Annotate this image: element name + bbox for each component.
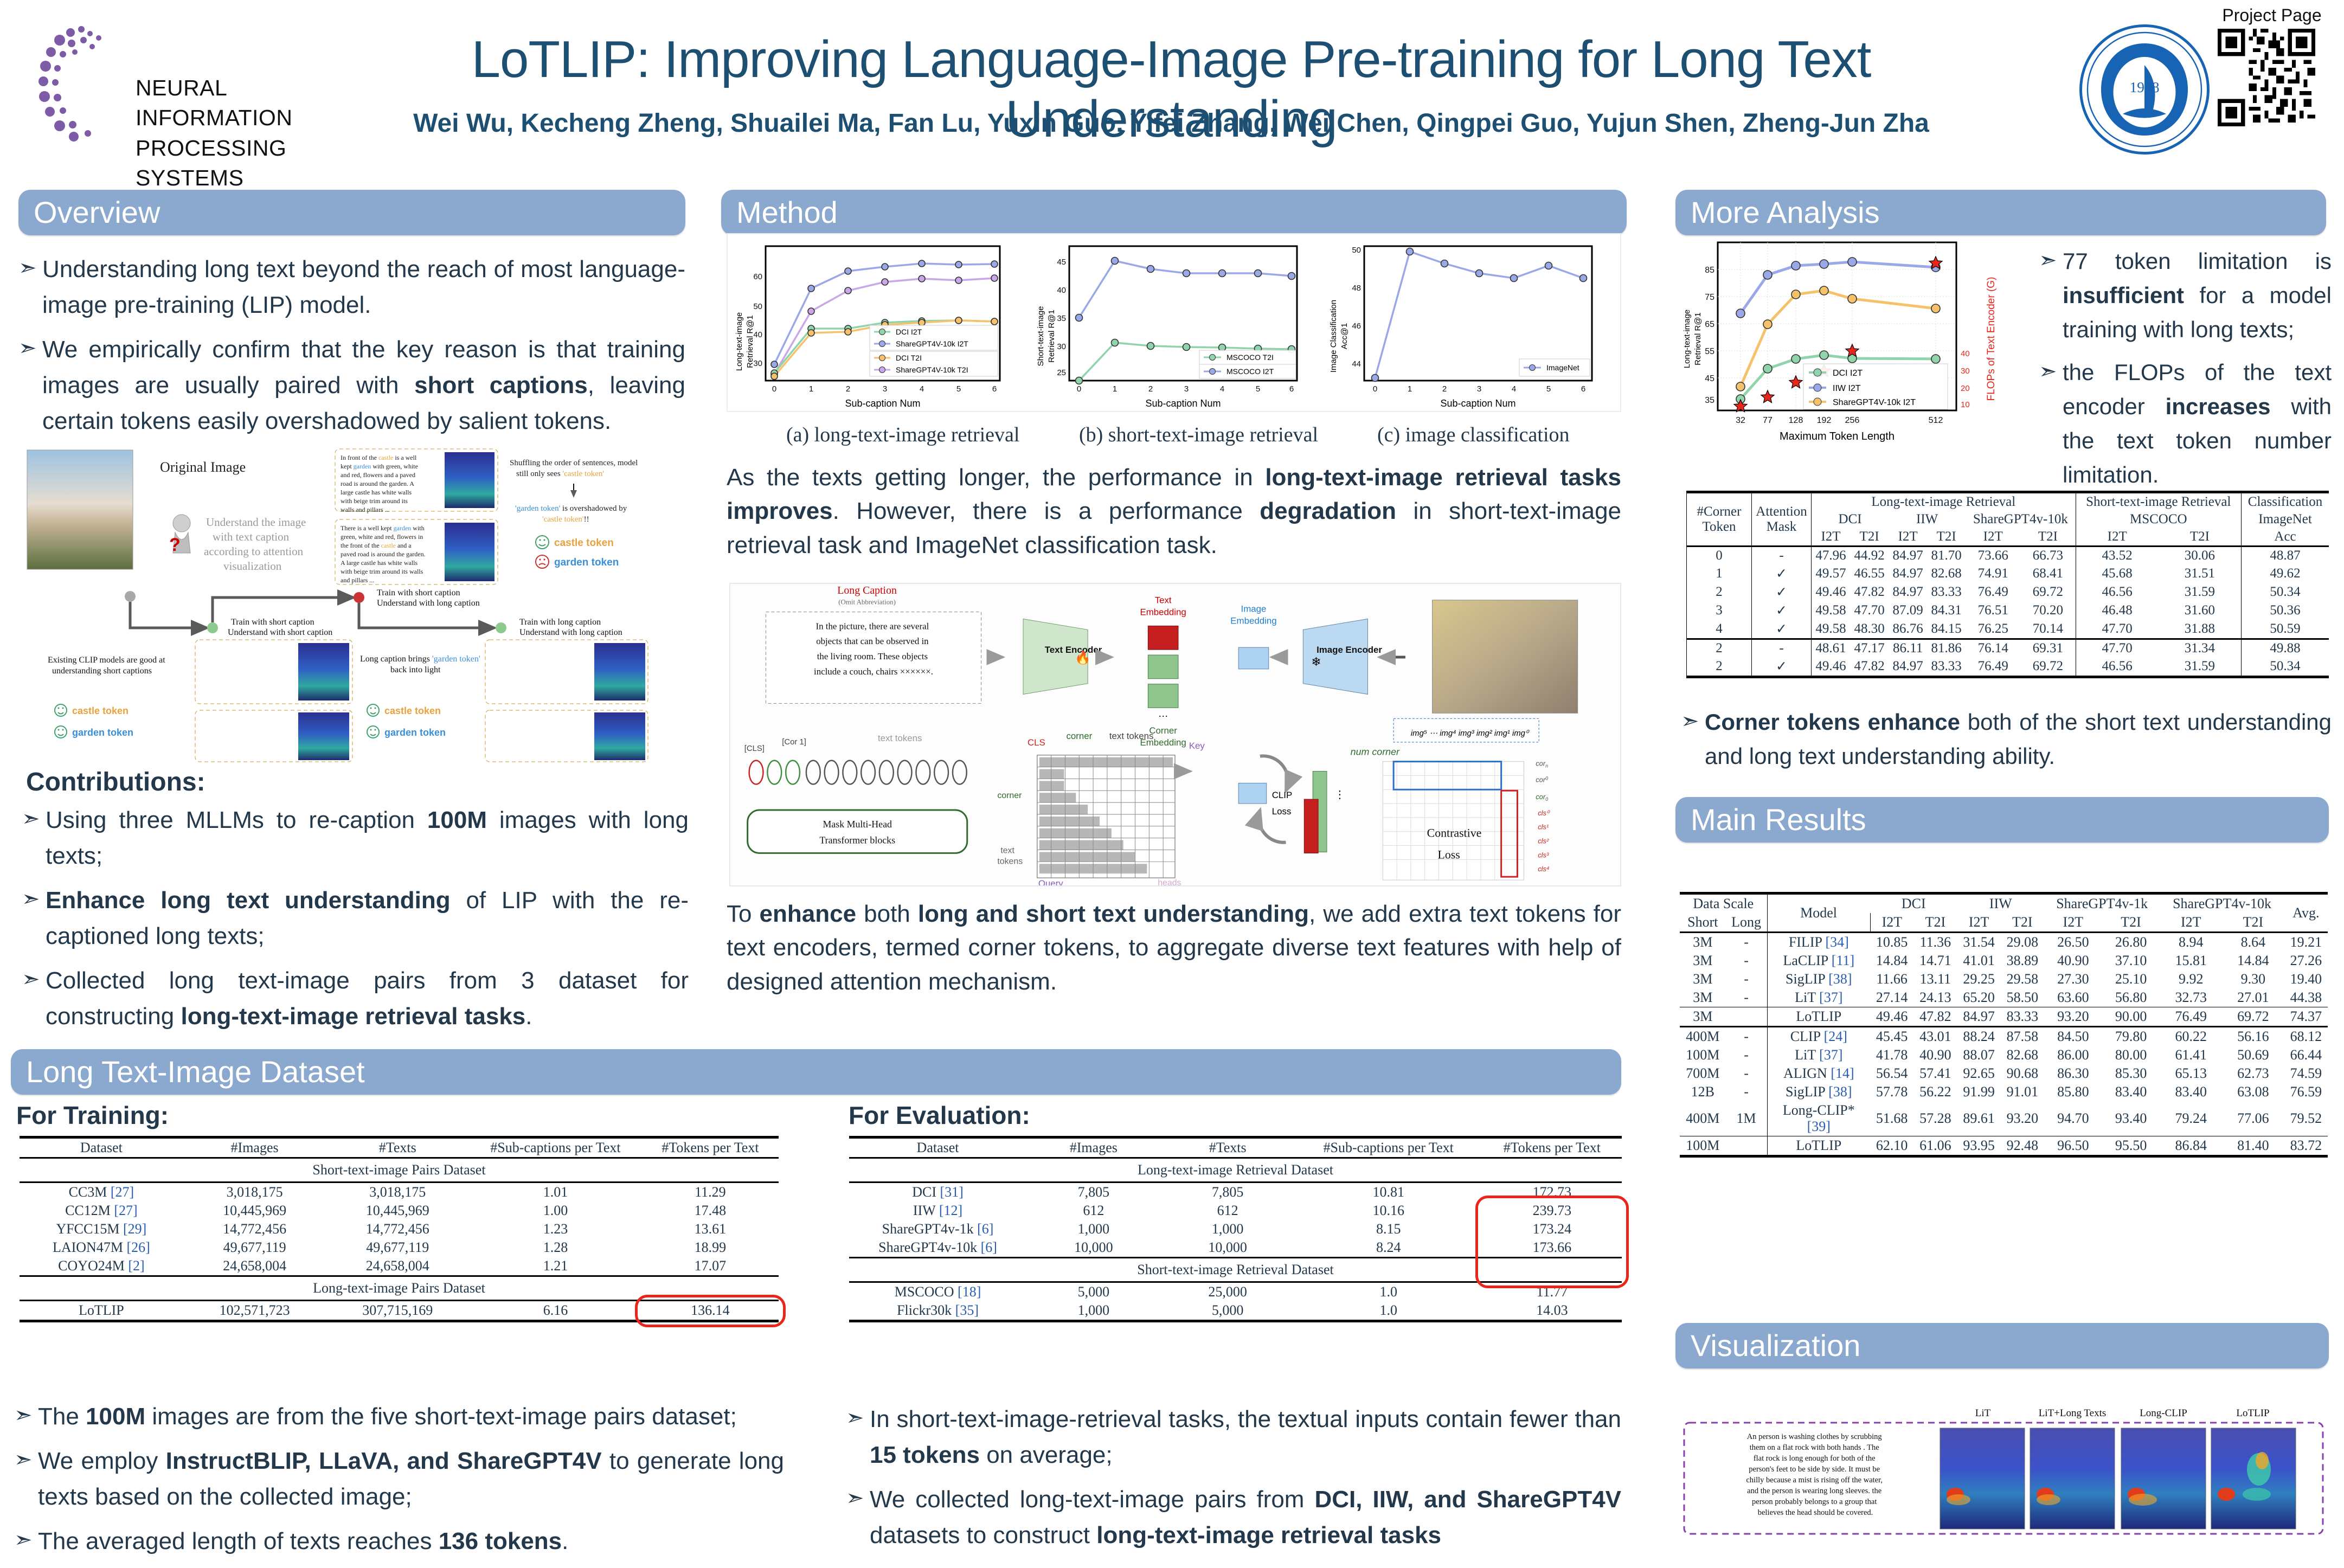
svg-text:cls²: cls² [1538, 837, 1549, 845]
th-c5: T2I [1927, 528, 1966, 547]
ma-legend-0: DCI I2T [1833, 369, 1863, 378]
corner-token-table: #Corner Token Attention Mask Long-text-i… [1686, 491, 2329, 678]
cor1-label: [Cor 1] [782, 738, 806, 747]
chart-max-token-length: Long-text-image Retrieval R@1 857565 554… [1681, 236, 2017, 453]
svg-text:75: 75 [1705, 293, 1714, 302]
overview-bullet-0: Understanding long text beyond the reach… [42, 252, 685, 323]
train-short-long-note: Train with short captionUnderstand with … [377, 588, 480, 608]
svg-text:32: 32 [1736, 416, 1745, 425]
chart-c-xticks: 012 3456 [1373, 384, 1585, 394]
omit-abbr-label: (Omit Abbreviation) [838, 599, 896, 606]
text-tokens-row-label2: tokens [997, 857, 1023, 866]
th-attention-mask: Attention Mask [1752, 492, 1812, 547]
visualization-figure: LiT LiT+Long Texts Long-CLIP LoTLIP An p… [1681, 1404, 2326, 1540]
method-banner: Method [721, 190, 1627, 235]
snowflake-icon: ❄ [1311, 655, 1321, 669]
training-dataset-table: Dataset #Images #Texts #Sub-captions per… [20, 1136, 779, 1322]
svg-text:30: 30 [1057, 342, 1066, 351]
arrow-bullet-icon: ➣ [22, 802, 46, 874]
th-c2: I2T [1812, 528, 1851, 547]
table-row: 2✓49.4647.8284.9783.3376.4969.7246.5631.… [1687, 657, 2329, 677]
dataset-left-bullets: ➣ The 100M images are from the five shor… [14, 1399, 784, 1568]
th-sharegpt10k: ShareGPT4v-10k [1966, 511, 2076, 528]
th-g-iiw: IIW [1957, 894, 2044, 914]
dataset-right-bullets: ➣ In short-text-image-retrieval tasks, t… [846, 1402, 1621, 1562]
ds-left-1: We employ InstructBLIP, LLaVA, and Share… [38, 1443, 784, 1515]
text-tokens-label-2: text tokens [1109, 731, 1154, 741]
long-caption-note: Long caption brings 'garden token' back … [360, 654, 483, 674]
chart-a-xticks: 012 3456 [772, 384, 997, 394]
castle-token-label-1: castle token [554, 537, 614, 549]
viz-label-2: Long-CLIP [2140, 1408, 2187, 1419]
th-s7: T2I [2222, 913, 2284, 933]
chart-b-ylabel2: Retrieval R@1 [1047, 310, 1056, 363]
smiley-icon [367, 704, 379, 716]
th-g-sg1k: ShareGPT4v-1k [2044, 894, 2160, 914]
arrow-bullet-icon: ➣ [2039, 244, 2063, 346]
arrow-bullet-icon: ➣ [14, 1399, 38, 1435]
th-g-sg10k: ShareGPT4v-10k [2160, 894, 2284, 914]
corner-embedding-block-1 [1148, 655, 1178, 679]
th-s3: T2I [2001, 913, 2044, 933]
ma-yticks: 857565 554535 [1705, 266, 1714, 405]
more-analysis-section: More Analysis [1675, 190, 2326, 235]
th-mscoco: MSCOCO [2076, 511, 2241, 528]
contribution-0: Using three MLLMs to re-caption 100M ima… [46, 802, 689, 874]
chart-a-ylabel: Long-text-image [735, 312, 744, 371]
legend-a-0: DCI I2T [896, 327, 922, 336]
list-item: ➣ In short-text-image-retrieval tasks, t… [846, 1402, 1621, 1473]
frowny-icon [536, 555, 549, 568]
svg-text:60: 60 [753, 272, 762, 281]
svg-text:45: 45 [1705, 374, 1714, 383]
dataset-section: Long Text-Image Dataset [11, 1049, 1621, 1095]
th-model: Model [1767, 894, 1870, 933]
th-data-scale: Data Scale [1680, 894, 1767, 914]
table-section-row: Long-text-image Pairs Dataset [20, 1276, 779, 1301]
for-evaluation-heading: For Evaluation: [849, 1101, 1030, 1130]
svg-text:1: 1 [1113, 384, 1117, 394]
list-item: ➣ Enhance long text understanding of LIP… [22, 883, 689, 954]
svg-text:2: 2 [846, 384, 850, 394]
th-ev-1: #Images [1026, 1138, 1160, 1158]
table-row: COYO24M [2]24,658,00424,658,0041.2117.07 [20, 1257, 779, 1276]
mask-blocks-label-1: Mask Multi-Head [823, 819, 892, 830]
svg-text:3: 3 [1184, 384, 1189, 394]
logo-line-1: NEURAL INFORMATION [136, 73, 320, 133]
ma-xlabel: Maximum Token Length [1780, 430, 1895, 442]
corner-embedding-block-2 [1148, 684, 1178, 708]
legend-a-3: ShareGPT4V-10k T2I [896, 365, 968, 374]
ma-ylabel-2: Retrieval R@1 [1693, 312, 1703, 365]
list-item: ➣ the FLOPs of the text encoder increase… [2039, 355, 2332, 492]
table-row: 2-48.6147.1786.1181.8676.1469.3147.7031.… [1687, 639, 2329, 658]
caption-card-top-2: There is a well kept garden with green, … [335, 519, 498, 584]
original-image-label: Original Image [160, 459, 246, 475]
caption-card-top-1: In front of the castle is a well kept ga… [335, 449, 498, 513]
ma-legend: DCI I2T IIW I2T ShareGPT4V-10k I2T [1803, 364, 1948, 409]
table-row: 3✓49.5847.7087.0984.3176.5170.2046.4831.… [1687, 601, 2329, 620]
svg-text:40: 40 [753, 330, 762, 339]
list-item: ➣ The 100M images are from the five shor… [14, 1399, 784, 1435]
legend-a-1: ShareGPT4V-10k I2T [896, 339, 968, 348]
text-tokens-label-1: text tokens [878, 733, 922, 743]
th-iiw: IIW [1889, 511, 1966, 528]
train-short-short-note: Train with short captionUnderstand with … [228, 618, 332, 637]
chart-c-yticks: 50484644 [1352, 246, 1361, 369]
list-item: ➣ We employ InstructBLIP, LLaVA, and Sha… [14, 1443, 784, 1515]
th-imagenet: ImageNet [2242, 511, 2329, 528]
svg-text:128: 128 [1789, 416, 1803, 425]
chart-c-ylabel2: Acc@1 [1340, 323, 1349, 350]
key-label: Key [1189, 741, 1205, 751]
th-s4: I2T [2044, 913, 2102, 933]
more-analysis-bullets: ➣ 77 token limitation is insufficient fo… [2039, 244, 2332, 500]
long-caption-title: Long Caption [837, 584, 897, 596]
svg-text:0: 0 [1373, 384, 1377, 394]
svg-text:30: 30 [1961, 367, 1970, 376]
th-g-dci: DCI [1870, 894, 1957, 914]
contribution-2: Collected long text-image pairs from 3 d… [46, 963, 689, 1034]
arrow-bullet-icon: ➣ [1681, 705, 1705, 773]
th-group-cls: Classification [2242, 492, 2329, 511]
ds-right-0: In short-text-image-retrieval tasks, the… [870, 1402, 1621, 1473]
main-results-table-body: 3M-FILIP [34]10.8511.3631.5429.0826.5026… [1680, 933, 2328, 1156]
chart-short-text-image-retrieval: Short-text-image Retrieval R@1 454035302… [1031, 239, 1319, 412]
caption-card-br-2 [485, 710, 648, 762]
svg-text:77: 77 [1763, 416, 1773, 425]
ma-legend-1: IIW I2T [1833, 384, 1861, 393]
clip-loss-label-2: Loss [1272, 806, 1292, 817]
viz-label-0: LiT [1975, 1408, 1991, 1419]
table-section-row: Short-text-image Pairs Dataset [20, 1158, 779, 1183]
train-long-long-note: Train with long captionUnderstand with l… [519, 618, 622, 637]
chart-long-text-image-retrieval: Long-text-image Retrieval R@1 60504030 0… [730, 239, 1023, 412]
th-s1: T2I [1913, 913, 1957, 933]
ma-legend-2: ShareGPT4V-10k I2T [1833, 398, 1916, 407]
text-encoder-label: Text Encoder [1045, 645, 1102, 655]
ustc-year: 1958 [2130, 79, 2160, 95]
qr-code-icon[interactable] [2218, 29, 2315, 126]
svg-text:20: 20 [1961, 384, 1970, 393]
list-item: ➣ We collected long-text-image pairs fro… [846, 1482, 1621, 1553]
table-row: CC3M [27]3,018,1753,018,1751.0111.29 [20, 1183, 779, 1202]
viz-heatmap-1 [2030, 1428, 2115, 1529]
castle-token-label-2: castle token [72, 705, 129, 716]
project-page-qr[interactable]: Project Page [2218, 5, 2326, 129]
text-tokens-row-label: text [1000, 846, 1014, 855]
svg-text:4: 4 [920, 384, 924, 394]
svg-text:55: 55 [1705, 347, 1714, 356]
svg-text:cor0: cor0 [1536, 793, 1548, 802]
svg-text:1: 1 [809, 384, 813, 394]
method-charts-row: Long-text-image Retrieval R@1 60504030 0… [727, 233, 1621, 412]
th-s0: I2T [1870, 913, 1913, 933]
overshadow-note: 'garden token' is overshadowed by 'castl… [515, 504, 629, 524]
th-ds-4: #Tokens per Text [642, 1138, 779, 1158]
svg-text:65: 65 [1705, 320, 1714, 329]
arrow-bullet-icon: ➣ [14, 1443, 38, 1515]
mask-blocks-label-2: Transformer blocks [819, 835, 895, 846]
list-item: ➣ 77 token limitation is insufficient fo… [2039, 244, 2332, 346]
list-item: ➣ Understanding long text beyond the rea… [18, 252, 685, 323]
dataset-banner: Long Text-Image Dataset [11, 1049, 1621, 1095]
corner-row-label: corner [997, 791, 1022, 800]
cor-cls-labels: corn cor0 cor0 cls⁰cls¹ cls²cls³ cls⁴ [1536, 760, 1550, 873]
ds-left-2: The averaged length of texts reaches 136… [38, 1524, 784, 1559]
svg-text:1: 1 [1408, 384, 1412, 394]
chart-b-ylabel: Short-text-image [1036, 306, 1045, 367]
viz-column-labels: LiT LiT+Long Texts Long-CLIP LoTLIP [1975, 1408, 2270, 1419]
svg-text:4: 4 [1512, 384, 1516, 394]
overview-figure: Original Image ? Understand the image wi… [22, 439, 683, 764]
neurips-dots-icon [38, 22, 146, 146]
arrow-bullet-icon: ➣ [22, 883, 46, 954]
existing-clip-note: Existing CLIP models are good atundersta… [48, 656, 165, 676]
table-section-row: Long-text-image Retrieval Dataset [849, 1158, 1622, 1183]
ellipsis-icon: ⋯ [1158, 711, 1168, 722]
th-ev-3: #Sub-captions per Text [1295, 1138, 1482, 1158]
list-item: ➣ The averaged length of texts reaches 1… [14, 1524, 784, 1559]
th-ev-4: #Tokens per Text [1482, 1138, 1622, 1158]
chart-b-legend: MSCOCO T2I MSCOCO I2T [1199, 350, 1296, 378]
thinker-icon: ? [169, 515, 190, 555]
svg-text:50: 50 [753, 302, 762, 311]
list-item: ➣ Collected long text-image pairs from 3… [22, 963, 689, 1034]
contrastive-loss-label-2: Loss [1438, 848, 1460, 861]
corner-token-note: ➣ Corner tokens enhance both of the shor… [1681, 705, 2332, 782]
table-row: 700M-ALIGN [14]56.5457.4192.6590.6886.30… [1680, 1064, 2328, 1083]
table-row: 1✓49.5746.5584.9782.6874.9168.4145.6831.… [1687, 564, 2329, 583]
logo-line-2: PROCESSING SYSTEMS [136, 133, 320, 194]
caption-card-bl-1 [195, 640, 352, 704]
visualization-section: Visualization [1675, 1323, 2329, 1368]
method-text-1: As the texts getting longer, the perform… [727, 461, 1621, 562]
svg-text:3: 3 [1477, 384, 1481, 394]
legend-a-2: DCI T2I [896, 354, 922, 362]
arrow-bullet-icon: ➣ [2039, 355, 2063, 492]
author-list: Wei Wu, Kecheng Zheng, Shuailei Ma, Fan … [325, 108, 2017, 138]
table-row: 3MLoTLIP49.4647.8284.9783.3393.2090.0076… [1680, 1007, 2328, 1027]
example-room-image [1433, 600, 1578, 714]
contribution-1: Enhance long text understanding of LIP w… [46, 883, 689, 954]
poster-header: NEURAL INFORMATION PROCESSING SYSTEMS Lo… [0, 0, 2344, 173]
svg-text:40: 40 [1961, 349, 1970, 358]
neurips-logo: NEURAL INFORMATION PROCESSING SYSTEMS [38, 22, 320, 146]
table-row: 12B-SigLIP [38]57.7856.2291.9991.0185.80… [1680, 1083, 2328, 1101]
arrow-bullet-icon: ➣ [18, 252, 42, 323]
th-c9: T2I [2159, 528, 2242, 547]
th-group-short: Short-text-image Retrieval [2076, 492, 2241, 511]
more-analysis-banner: More Analysis [1675, 190, 2326, 235]
th-c3: T2I [1850, 528, 1889, 547]
chart-c-ylabel: Image Classification [1329, 300, 1338, 372]
svg-text:cls⁴: cls⁴ [1538, 865, 1549, 873]
svg-text:5: 5 [1256, 384, 1260, 394]
th-s5: T2I [2102, 913, 2160, 933]
clip-loss-label-1: CLIP [1272, 790, 1292, 800]
th-ev-0: Dataset [849, 1138, 1026, 1158]
overview-bullets: ➣ Understanding long text beyond the rea… [18, 252, 685, 439]
table-row: 100MLoTLIP62.1061.0693.9592.4896.5095.50… [1680, 1136, 2328, 1156]
garden-token-label-1: garden token [554, 557, 619, 568]
ma-ylabel-right: FLOPs of Text Encoder (G) [1986, 277, 1997, 401]
cls-matrix-label: CLS [1027, 737, 1045, 748]
legend-b-1: MSCOCO I2T [1226, 367, 1274, 376]
text-embedding-block [1148, 626, 1178, 650]
table-row: 3M-LiT [37]27.1424.1365.2058.5063.6056.8… [1680, 988, 2328, 1007]
th-c7: T2I [2020, 528, 2076, 547]
list-item: ➣ Corner tokens enhance both of the shor… [1681, 705, 2332, 773]
th-ds-2: #Texts [326, 1138, 469, 1158]
svg-text:48: 48 [1352, 284, 1361, 293]
caption-card-br-1 [485, 640, 648, 704]
svg-text:5: 5 [1546, 384, 1551, 394]
numcorner-label: num corner [1351, 747, 1400, 757]
svg-text:40: 40 [1057, 286, 1066, 295]
svg-text:192: 192 [1817, 416, 1832, 425]
svg-text:5: 5 [956, 384, 961, 394]
smiley-icon [367, 726, 379, 738]
th-ds-3: #Sub-captions per Text [469, 1138, 642, 1158]
architecture-diagram: Long Caption (Omit Abbreviation) In the … [729, 583, 1621, 886]
th-ev-2: #Texts [1161, 1138, 1295, 1158]
ma-bullet-1: the FLOPs of the text encoder increases … [2063, 355, 2332, 492]
svg-text:50: 50 [1352, 246, 1361, 255]
attention-matrix [1037, 755, 1175, 878]
th-ds-0: Dataset [20, 1138, 183, 1158]
table-row: Flickr30k [35]1,0005,0001.014.03 [849, 1301, 1622, 1321]
svg-text:6: 6 [992, 384, 997, 394]
heads-label: heads [1158, 878, 1181, 886]
viz-heatmap-2 [2121, 1428, 2206, 1529]
viz-heatmaps [1940, 1428, 2296, 1529]
method-section: Method [721, 190, 1627, 235]
svg-text:In front of the castle is a we: In front of the castle is a well kept ga… [341, 454, 420, 513]
th-s2: I2T [1957, 913, 2001, 933]
ds-left-0: The 100M images are from the five short-… [38, 1399, 784, 1435]
svg-text:4: 4 [1220, 384, 1224, 394]
contributions-bullets: ➣ Using three MLLMs to re-caption 100M i… [22, 802, 689, 1043]
main-results-section: Main Results [1675, 797, 2329, 843]
th-corner-token: #Corner Token [1687, 492, 1752, 547]
flame-icon: 🔥 [1075, 650, 1091, 665]
arrow-bullet-icon: ➣ [22, 963, 46, 1034]
table-row: 100M-LiT [37]41.7840.9088.0782.6886.0080… [1680, 1046, 2328, 1064]
smiley-icon [536, 536, 549, 549]
svg-text:44: 44 [1352, 359, 1361, 369]
viz-label-1: LiT+Long Texts [2039, 1408, 2107, 1419]
caption-card-bl-2 [195, 710, 352, 762]
svg-text:45: 45 [1057, 258, 1066, 267]
chart-c-caption: (c) image classification [1377, 423, 1570, 447]
svg-text:35: 35 [1057, 314, 1066, 323]
th-ds-1: #Images [183, 1138, 326, 1158]
table-row: 400M1MLong-CLIP* [39]51.6857.2889.6193.2… [1680, 1101, 2328, 1136]
ma-note: Corner tokens enhance both of the short … [1705, 705, 2332, 773]
th-avg: Avg. [2284, 894, 2328, 933]
svg-text:corn: corn [1536, 760, 1548, 769]
svg-text:25: 25 [1057, 368, 1066, 377]
viz-caption: An person is washing clothes by scrubbin… [1746, 1432, 1884, 1517]
query-label: Query [1038, 878, 1063, 886]
main-results-table: Data Scale Model DCI IIW ShareGPT4v-1k S… [1680, 892, 2328, 1158]
chart-c-xlabel: Sub-caption Num [1440, 398, 1515, 409]
for-training-heading: For Training: [16, 1101, 169, 1130]
legend-c-0: ImageNet [1546, 363, 1579, 372]
table-row: 3M-FILIP [34]10.8511.3631.5429.0826.5026… [1680, 933, 2328, 952]
svg-text:2: 2 [1442, 384, 1447, 394]
list-item: ➣ Using three MLLMs to re-caption 100M i… [22, 802, 689, 874]
th-short: Short [1680, 913, 1726, 933]
table-row: 400M-CLIP [24]45.4543.0188.2487.5884.507… [1680, 1027, 2328, 1046]
image-encoder-label: Image Encoder [1317, 645, 1382, 655]
viz-heatmap-0 [1940, 1428, 2025, 1529]
svg-text:6: 6 [1289, 384, 1294, 394]
vertical-ellipsis-icon: ⋮ [1334, 789, 1345, 801]
cls-label: [CLS] [744, 744, 765, 753]
contrastive-loss-label-1: Contrastive [1427, 827, 1482, 840]
castle-token-label-3: castle token [384, 705, 441, 716]
svg-text:512: 512 [1929, 416, 1943, 425]
image-embedding-label2: Embedding [1230, 615, 1276, 626]
th-dci: DCI [1812, 511, 1889, 528]
image-embedding-block [1238, 647, 1269, 669]
th-c4: I2T [1889, 528, 1927, 547]
svg-text:30: 30 [753, 359, 762, 368]
chart-a-xlabel: Sub-caption Num [845, 398, 920, 409]
table-row: CC12M [27]10,445,96910,445,9691.0017.48 [20, 1201, 779, 1220]
th-long: Long [1726, 913, 1767, 933]
svg-text:?: ? [169, 535, 181, 555]
original-image [27, 450, 133, 569]
visualization-banner: Visualization [1675, 1323, 2329, 1368]
training-dataset-table-body: Short-text-image Pairs DatasetCC3M [27]3… [20, 1158, 779, 1321]
svg-text:There is a well kept garden wi: There is a well kept garden with green, … [341, 524, 427, 584]
chart-c-legend: ImageNet [1519, 359, 1590, 376]
svg-text:cor0: cor0 [1536, 775, 1548, 783]
chart-b-xticks: 012 3456 [1077, 384, 1294, 394]
svg-text:0: 0 [1077, 384, 1081, 394]
garden-token-label-2: garden token [72, 727, 133, 738]
corner-token-table-body: 0-47.9644.9284.9781.7073.6666.7343.5230.… [1687, 547, 2329, 677]
svg-text:85: 85 [1705, 266, 1714, 275]
svg-text:10: 10 [1961, 400, 1970, 409]
th-c8: I2T [2076, 528, 2159, 547]
overview-section: Overview ➣ Understanding long text beyon… [18, 190, 685, 448]
image-embedding-label: Image [1241, 604, 1267, 614]
th-group-long: Long-text-image Retrieval [1812, 492, 2076, 511]
corner-matrix-label: corner [1066, 731, 1092, 741]
table-row: YFCC15M [29]14,772,45614,772,4561.2313.6… [20, 1220, 779, 1238]
ds-right-1: We collected long-text-image pairs from … [870, 1482, 1621, 1553]
svg-text:35: 35 [1705, 396, 1714, 405]
th-s6: I2T [2160, 913, 2222, 933]
shuffle-note: Shuffling the order of sentences, model … [510, 459, 640, 478]
table-row: 2✓49.4647.8284.9783.3376.4969.7246.5631.… [1687, 583, 2329, 601]
viz-label-3: LoTLIP [2236, 1408, 2269, 1419]
overview-bullet-1: We empirically confirm that the key reas… [42, 332, 685, 439]
highlight-box [638, 1297, 783, 1325]
table-row: 3M-SigLIP [38]11.6613.1129.2529.5827.302… [1680, 970, 2328, 988]
qr-label: Project Page [2218, 5, 2326, 25]
arrow-bullet-icon: ➣ [846, 1402, 870, 1473]
legend-b-0: MSCOCO T2I [1226, 353, 1274, 362]
chart-b-caption: (b) short-text-image retrieval [1079, 423, 1318, 447]
text-embedding-label: Text [1155, 595, 1172, 606]
table-row: 4✓49.5848.3086.7684.1576.2570.1447.7031.… [1687, 620, 2329, 639]
understand-note: Understand the image with text caption a… [204, 516, 309, 573]
